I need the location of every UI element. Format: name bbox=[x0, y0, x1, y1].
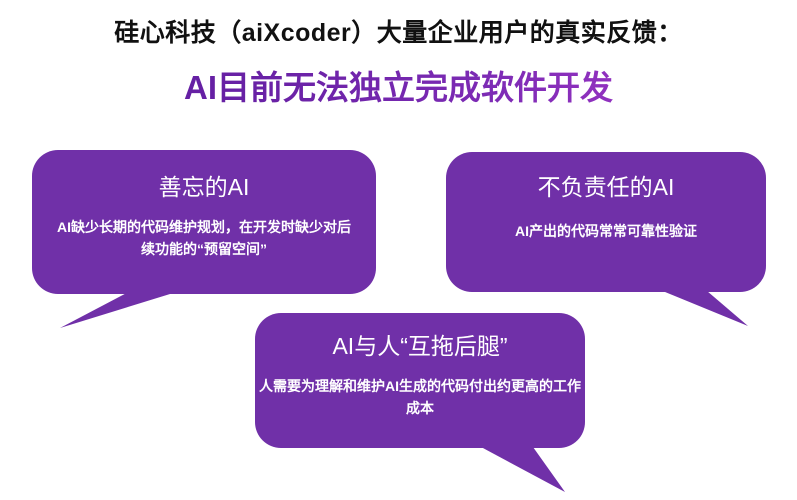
bubble-title: 善忘的AI bbox=[32, 172, 376, 202]
bubble-title: AI与人“互拖后腿” bbox=[255, 331, 585, 361]
bubble-body: AI缺少长期的代码维护规划，在开发时缺少对后续功能的“预留空间” bbox=[32, 216, 376, 260]
slide-subtitle: AI目前无法独立完成软件开发 bbox=[0, 66, 797, 110]
bubble-body: 人需要为理解和维护AI生成的代码付出约更高的工作成本 bbox=[255, 375, 585, 419]
bubble-title: 不负责任的AI bbox=[446, 172, 766, 202]
speech-bubble-mutual-drag[interactable]: AI与人“互拖后腿” 人需要为理解和维护AI生成的代码付出约更高的工作成本 bbox=[255, 313, 585, 448]
slide-title: 硅心科技（aiXcoder）大量企业用户的真实反馈： bbox=[0, 16, 797, 50]
bubble-body: AI产出的代码常常可靠性验证 bbox=[446, 220, 766, 242]
slide-canvas: 硅心科技（aiXcoder）大量企业用户的真实反馈： AI目前无法独立完成软件开… bbox=[0, 0, 797, 500]
speech-bubble-forgetful-ai[interactable]: 善忘的AI AI缺少长期的代码维护规划，在开发时缺少对后续功能的“预留空间” bbox=[32, 150, 376, 294]
speech-bubble-irresponsible-ai[interactable]: 不负责任的AI AI产出的代码常常可靠性验证 bbox=[446, 152, 766, 292]
